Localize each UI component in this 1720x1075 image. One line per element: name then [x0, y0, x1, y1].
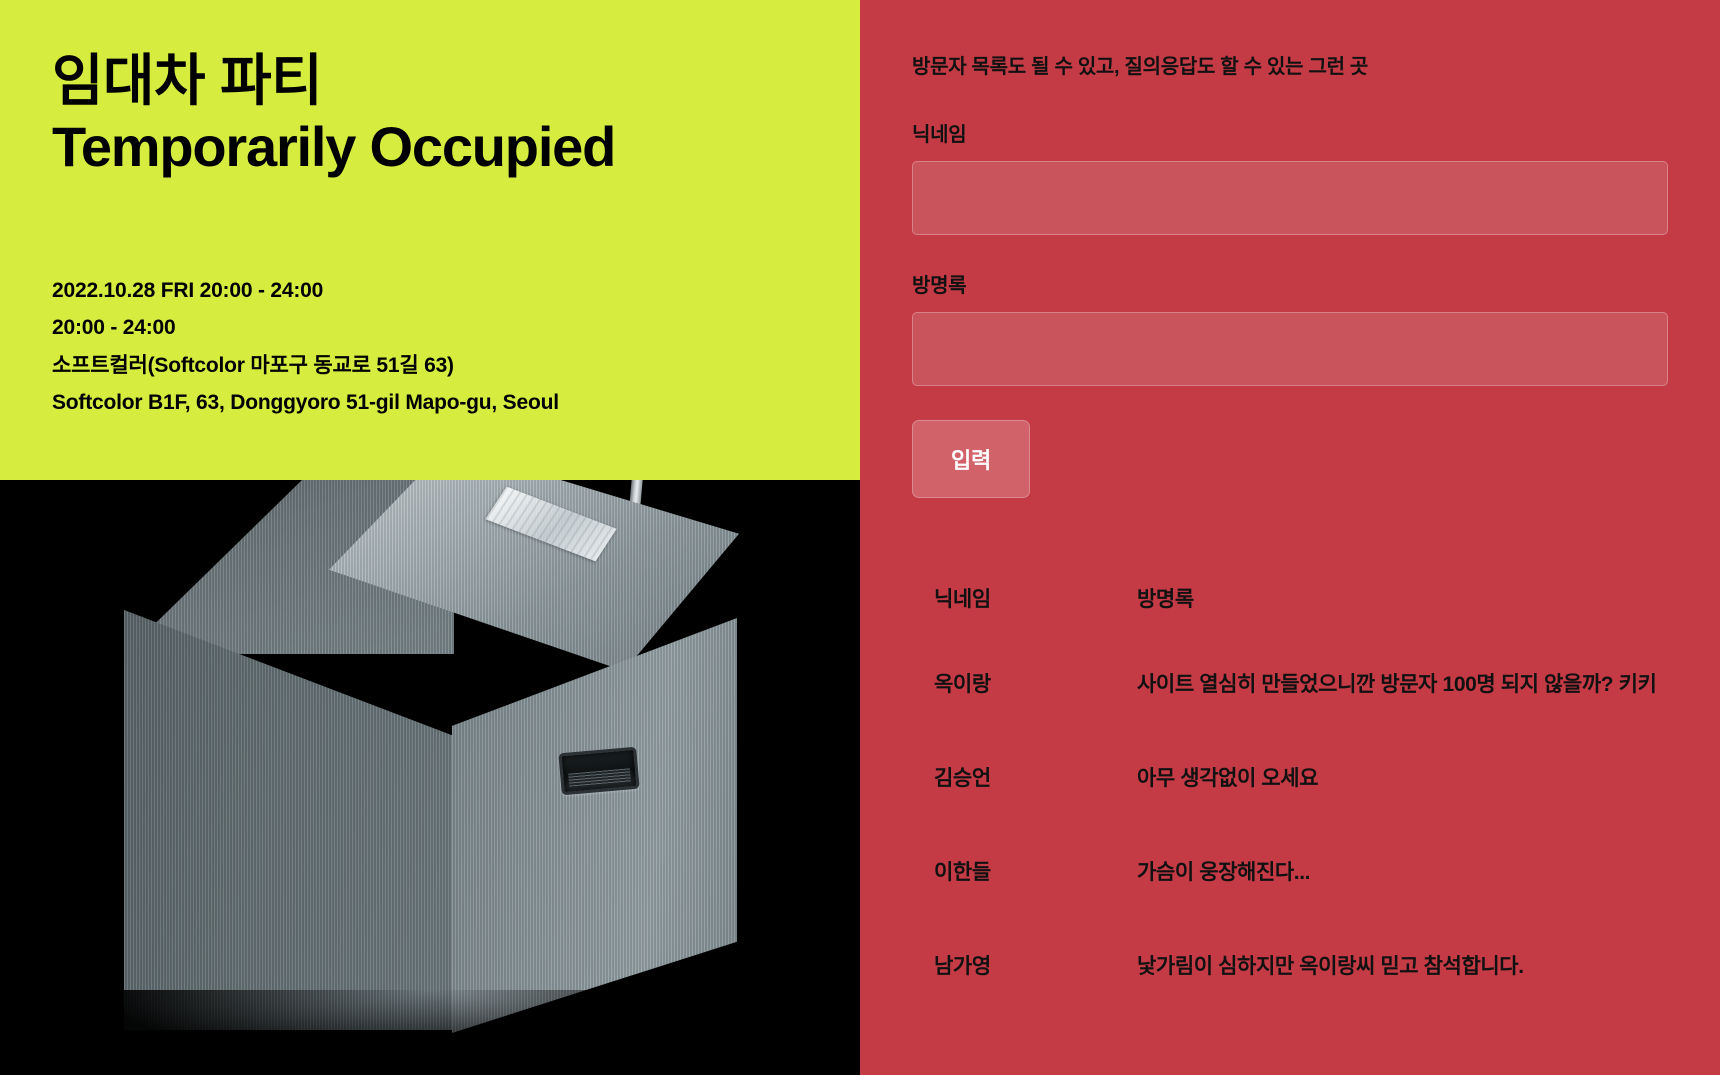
cell-nickname: 남가영	[912, 920, 1137, 1014]
guestbook-intro-text: 방문자 목록도 될 수 있고, 질의응답도 할 수 있는 그런 곳	[912, 50, 1368, 79]
event-venue-en-line: Softcolor B1F, 63, Donggyoro 51-gil Mapo…	[52, 384, 842, 421]
guestbook-table-head: 닉네임 방명록	[912, 562, 1702, 638]
table-row: 이한들 가슴이 웅장해진다...	[912, 826, 1702, 920]
poster-column: 임대차 파티 Temporarily Occupied 2022.10.28 F…	[0, 0, 860, 1075]
title-english: Temporarily Occupied	[52, 114, 832, 180]
guestbook-column: 방문자 목록도 될 수 있고, 질의응답도 할 수 있는 그런 곳 닉네임 방명…	[860, 0, 1720, 1075]
table-row: 남가영 낯가림이 심하지만 옥이랑씨 믿고 참석합니다.	[912, 920, 1702, 1014]
box-handle-cutout	[558, 747, 639, 796]
event-landing-page: 임대차 파티 Temporarily Occupied 2022.10.28 F…	[0, 0, 1720, 1075]
cardboard-house-photo	[0, 480, 860, 1075]
message-label: 방명록	[912, 269, 1668, 298]
cell-message: 아무 생각없이 오세요	[1137, 732, 1702, 826]
cell-nickname: 이한들	[912, 826, 1137, 920]
poster-header-panel: 임대차 파티 Temporarily Occupied 2022.10.28 F…	[0, 0, 860, 480]
cell-message: 사이트 열심히 만들었으니깐 방문자 100명 되지 않을까? 키키	[1137, 638, 1702, 732]
column-header-message: 방명록	[1137, 562, 1702, 638]
poster-photo-panel: DJ Line Up 20:30 - 22:00 Baby DJ 1 류원형 2…	[0, 480, 860, 1075]
message-input[interactable]	[912, 312, 1668, 386]
page-title: 임대차 파티 Temporarily Occupied	[52, 48, 832, 179]
corrugation-texture	[124, 610, 454, 1030]
cell-nickname: 김승언	[912, 732, 1137, 826]
table-row: 김승언 아무 생각없이 오세요	[912, 732, 1702, 826]
column-header-nickname: 닉네임	[912, 562, 1137, 638]
guestbook-table: 닉네임 방명록 옥이랑 사이트 열심히 만들었으니깐 방문자 100명 되지 않…	[912, 562, 1702, 1014]
table-header-row: 닉네임 방명록	[912, 562, 1702, 638]
cell-nickname: 옥이랑	[912, 638, 1137, 732]
event-date-line: 2022.10.28 FRI 20:00 - 24:00	[52, 272, 842, 309]
event-details: 2022.10.28 FRI 20:00 - 24:00 20:00 - 24:…	[52, 272, 842, 422]
guestbook-form: 닉네임 방명록 입력	[912, 118, 1668, 498]
submit-button[interactable]: 입력	[912, 420, 1030, 498]
cell-message: 낯가림이 심하지만 옥이랑씨 믿고 참석합니다.	[1137, 920, 1702, 1014]
table-row: 옥이랑 사이트 열심히 만들었으니깐 방문자 100명 되지 않을까? 키키	[912, 638, 1702, 732]
wall-right-face	[452, 618, 737, 1033]
cell-message: 가슴이 웅장해진다...	[1137, 826, 1702, 920]
wall-left-face	[124, 610, 454, 1030]
guestbook-table-body: 옥이랑 사이트 열심히 만들었으니깐 방문자 100명 되지 않을까? 키키 김…	[912, 638, 1702, 1014]
title-korean: 임대차 파티	[52, 48, 832, 114]
nickname-input[interactable]	[912, 161, 1668, 235]
event-venue-ko-line: 소프트컬러(Softcolor 마포구 동교로 51길 63)	[52, 347, 842, 384]
nickname-label: 닉네임	[912, 118, 1668, 147]
event-time-line: 20:00 - 24:00	[52, 309, 842, 346]
corrugation-texture	[452, 618, 737, 1033]
